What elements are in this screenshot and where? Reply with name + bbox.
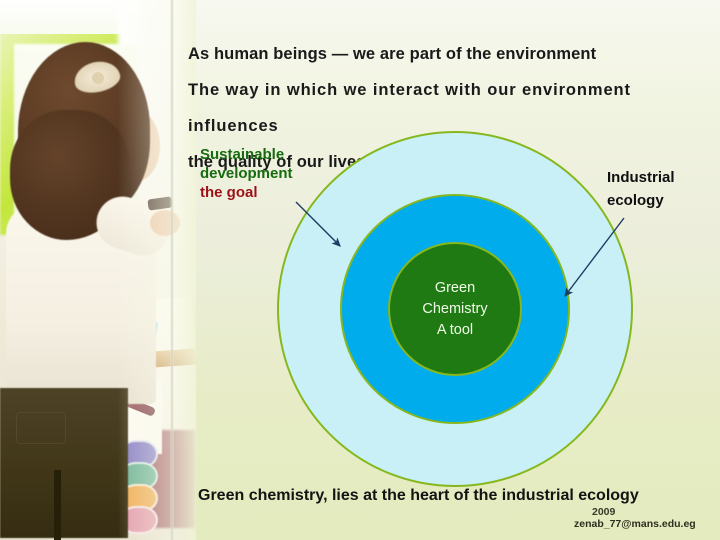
headline-line-1: As human beings — we are part of the env… <box>188 36 708 72</box>
slide-canvas: As human beings — we are part of the env… <box>0 0 720 540</box>
photo-girl-painting <box>0 0 196 540</box>
footer-caption: Green chemistry, lies at the heart of th… <box>198 487 639 505</box>
circle-inner-line-3: A tool <box>422 320 487 341</box>
circle-inner-text: Green Chemistry A tool <box>422 278 487 341</box>
circle-inner-line-1: Green <box>422 278 487 299</box>
circle-inner-green-chemistry: Green Chemistry A tool <box>388 242 522 376</box>
concentric-circles-diagram: Green Chemistry A tool <box>277 131 633 487</box>
photo-edge-fade <box>0 0 196 540</box>
footer-email: zenab_77@mans.edu.eg <box>574 518 696 530</box>
photo-divider-line <box>170 0 174 540</box>
footer-year: 2009 <box>592 506 615 518</box>
circle-inner-line-2: Chemistry <box>422 299 487 320</box>
